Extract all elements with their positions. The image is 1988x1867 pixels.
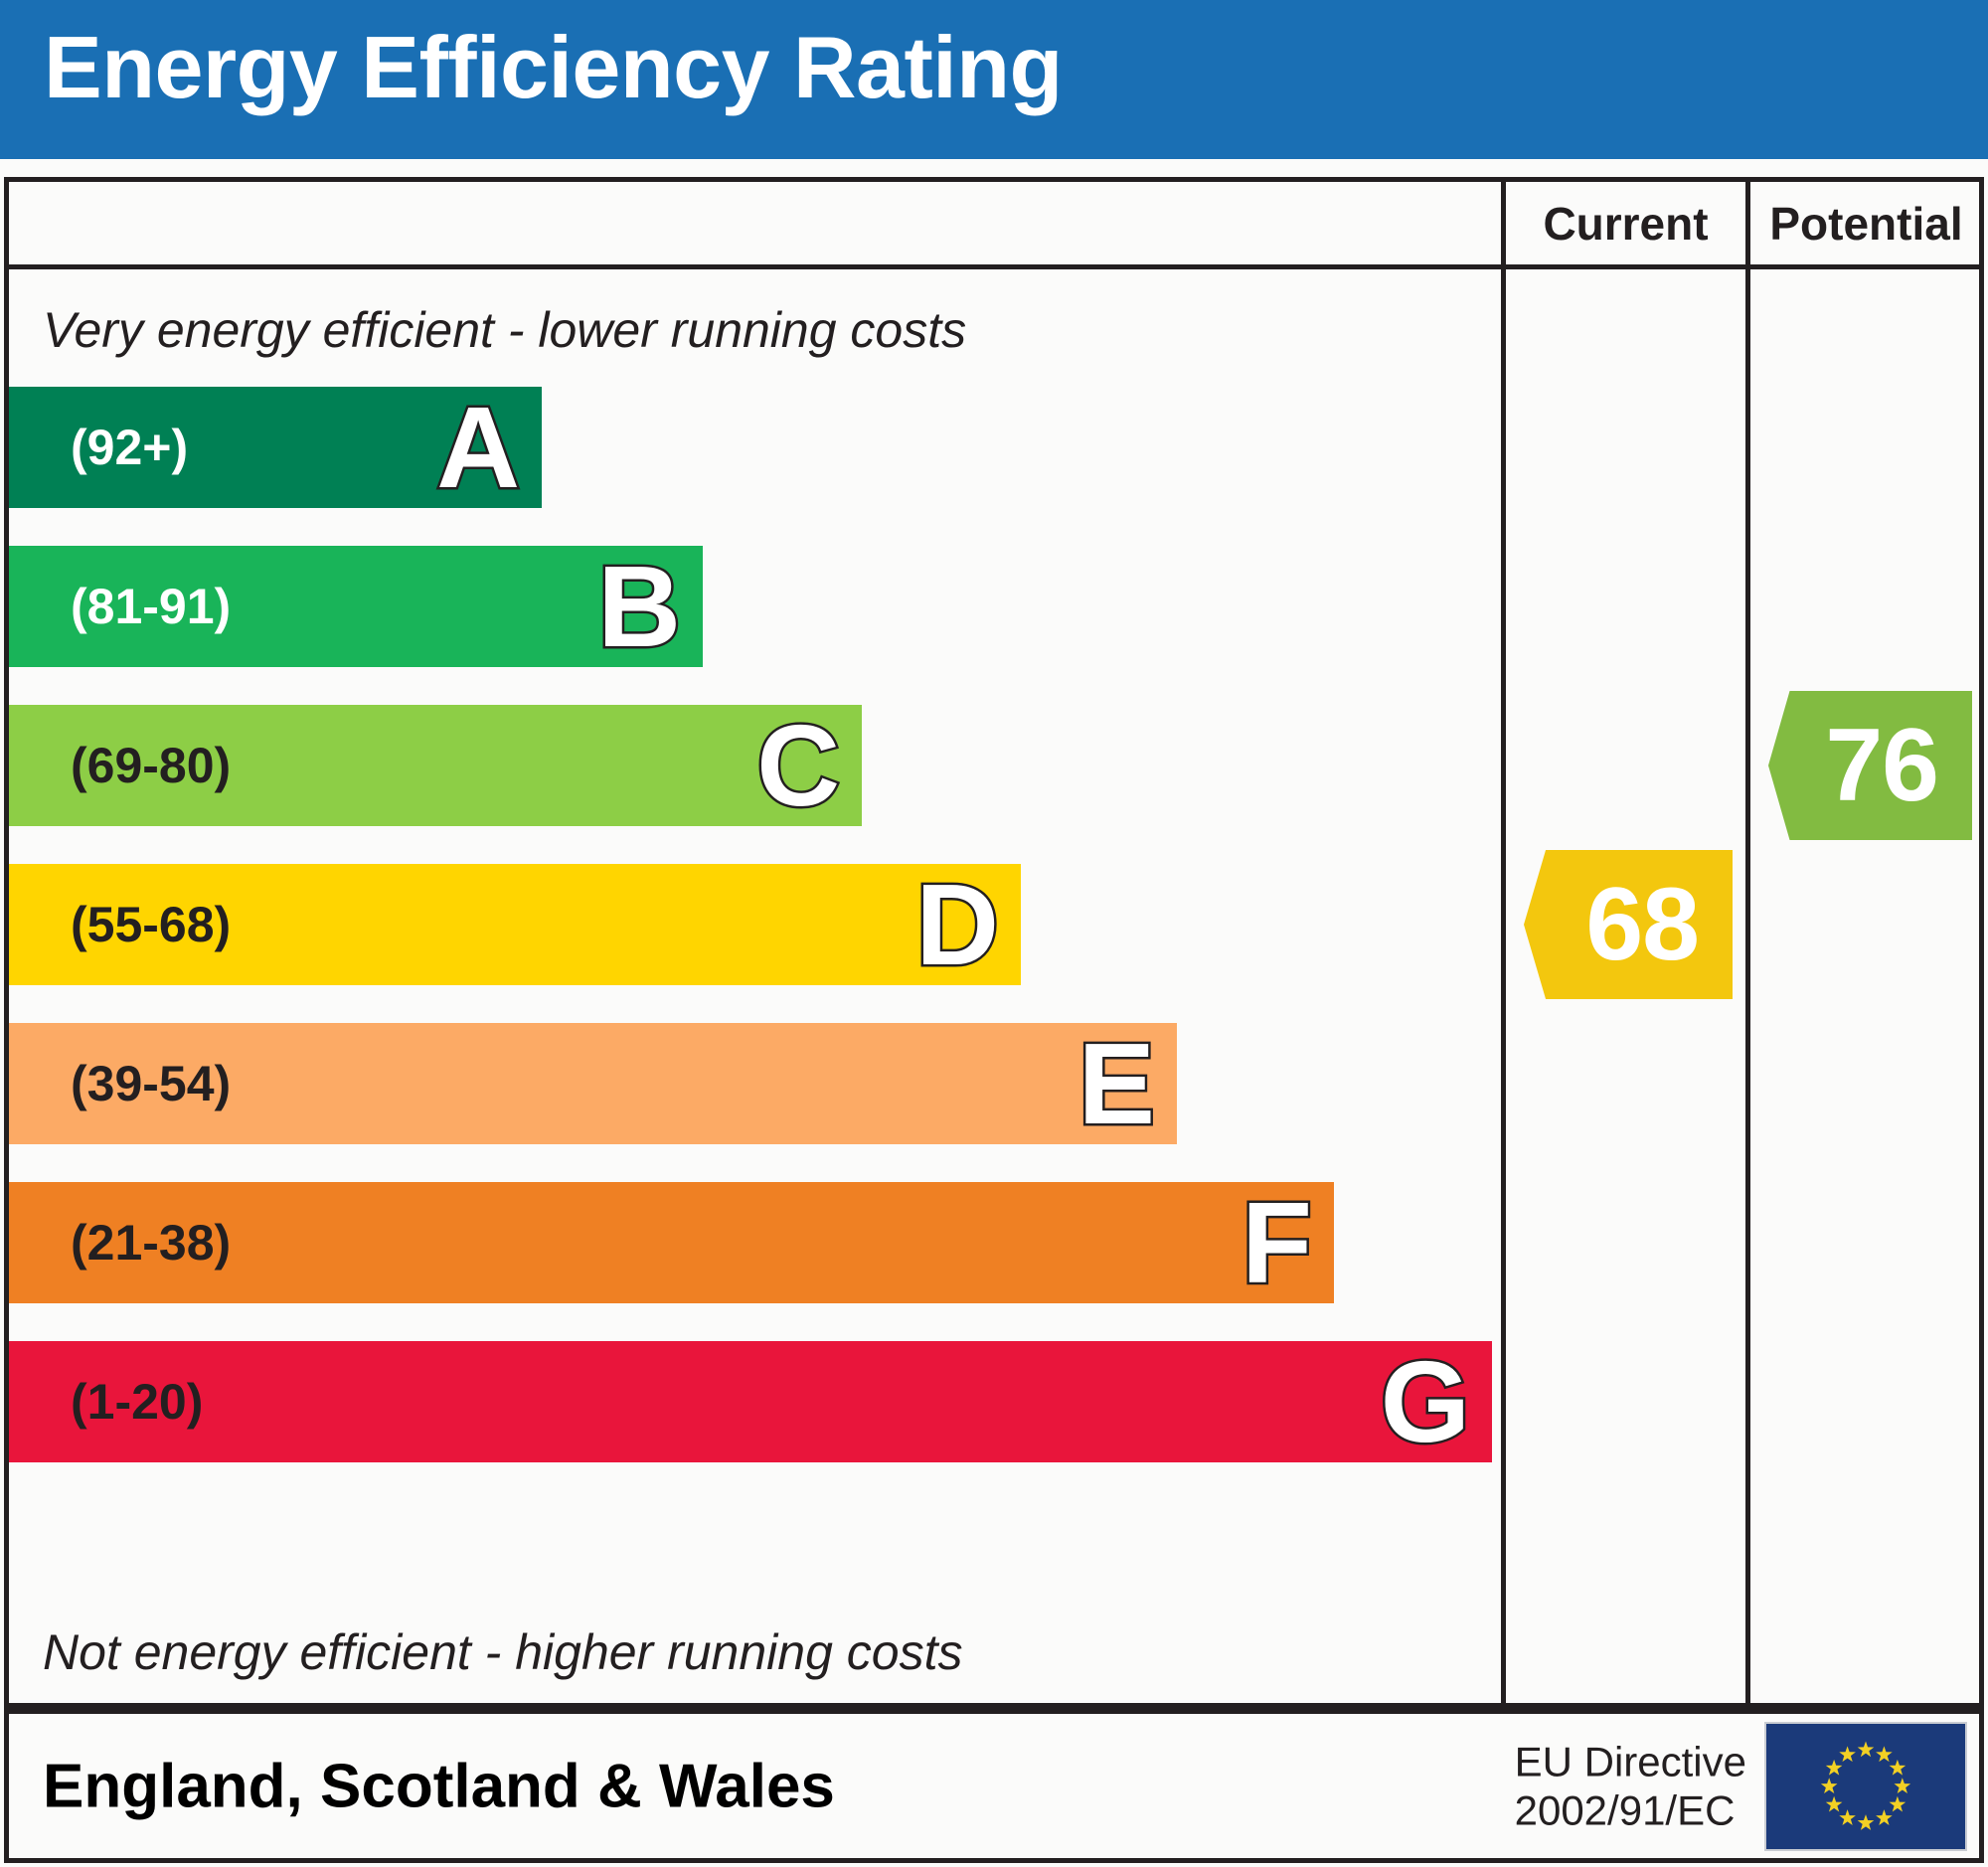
page-title: Energy Efficiency Rating (44, 22, 1063, 113)
band-letter-d: D (915, 867, 999, 982)
column-header-potential: Potential (1745, 182, 1982, 264)
band-bar-c: (69-80)C (9, 705, 862, 826)
footer-country-label: England, Scotland & Wales (43, 1751, 835, 1821)
title-bar: Energy Efficiency Rating (0, 0, 1988, 159)
eu-star (1895, 1778, 1911, 1793)
eu-star (1821, 1778, 1838, 1793)
band-range-e: (39-54) (71, 1055, 231, 1112)
eu-star (1890, 1759, 1906, 1775)
energy-efficiency-rating-chart: Energy Efficiency Rating Current Potenti… (0, 0, 1988, 1867)
band-bar-b: (81-91)B (9, 546, 703, 667)
eu-star (1890, 1795, 1906, 1811)
european-union-flag-icon (1764, 1722, 1967, 1851)
caption-not-efficient: Not energy efficient - higher running co… (43, 1623, 963, 1681)
eu-star (1826, 1795, 1843, 1811)
band-bars-area: Very energy efficient - lower running co… (9, 269, 1501, 1703)
band-letter-a: A (436, 390, 520, 505)
band-letter-c: C (756, 708, 840, 823)
column-header-current: Current (1501, 182, 1745, 264)
band-letter-g: G (1381, 1344, 1470, 1459)
eu-star (1858, 1741, 1875, 1757)
eu-star (1876, 1809, 1893, 1825)
band-range-d: (55-68) (71, 896, 231, 953)
band-letter-b: B (597, 549, 681, 664)
footer-bar: England, Scotland & Wales EU Directive 2… (4, 1708, 1984, 1863)
rating-badge-current: 68 (1524, 850, 1733, 999)
rating-value-current: 68 (1585, 873, 1733, 976)
caption-very-efficient: Very energy efficient - lower running co… (43, 301, 966, 359)
band-range-b: (81-91) (71, 578, 231, 635)
band-bar-d: (55-68)D (9, 864, 1021, 985)
column-divider-current (1501, 269, 1506, 1703)
eu-star (1826, 1759, 1843, 1775)
band-range-c: (69-80) (71, 737, 231, 794)
footer-directive-label: EU Directive 2002/91/EC (1515, 1737, 1746, 1835)
directive-line-1: EU Directive (1515, 1737, 1746, 1786)
eu-star (1858, 1814, 1875, 1830)
band-bar-e: (39-54)E (9, 1023, 1177, 1144)
band-bar-g: (1-20)G (9, 1341, 1492, 1462)
eu-star (1876, 1746, 1893, 1762)
band-bar-a: (92+)A (9, 387, 542, 508)
rating-value-potential: 76 (1825, 714, 1972, 817)
table-header-row: Current Potential (9, 182, 1979, 269)
band-bar-f: (21-38)F (9, 1182, 1334, 1303)
column-divider-potential (1745, 269, 1750, 1703)
band-range-g: (1-20) (71, 1373, 203, 1431)
rating-badge-potential: 76 (1768, 691, 1972, 840)
eu-star (1839, 1746, 1856, 1762)
band-range-f: (21-38) (71, 1214, 231, 1272)
band-range-a: (92+) (71, 419, 188, 476)
rating-table: Current Potential Very energy efficient … (4, 177, 1984, 1708)
band-letter-f: F (1242, 1185, 1312, 1300)
band-letter-e: E (1078, 1026, 1155, 1141)
eu-star (1839, 1809, 1856, 1825)
directive-line-2: 2002/91/EC (1515, 1786, 1746, 1836)
